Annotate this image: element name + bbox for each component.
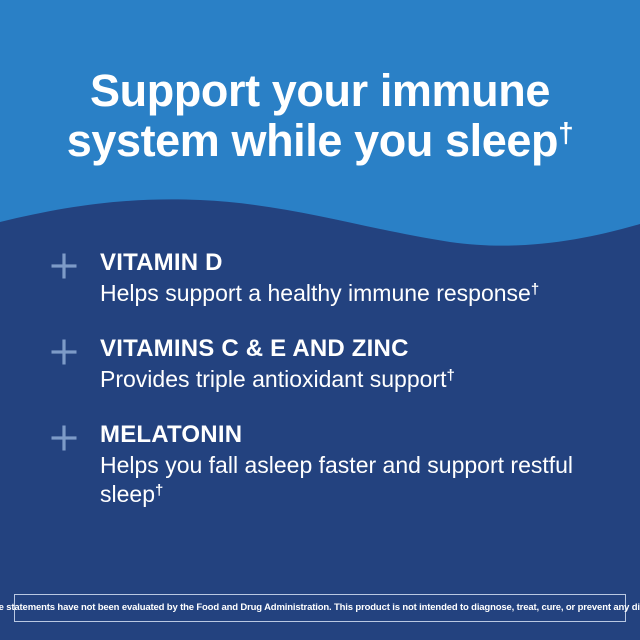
benefit-item-vitamin-d: VITAMIN D Helps support a healthy immune… [50, 248, 610, 308]
benefit-description-text: Helps you fall asleep faster and support… [100, 452, 573, 507]
benefit-title: VITAMINS C & E AND ZINC [100, 334, 610, 364]
benefit-item-melatonin: MELATONIN Helps you fall asleep faster a… [50, 420, 610, 509]
benefit-dagger: † [155, 482, 163, 499]
plus-icon [50, 424, 78, 452]
benefit-description: Helps support a healthy immune response† [100, 279, 610, 308]
benefit-description: Helps you fall asleep faster and support… [100, 451, 610, 509]
benefit-title: VITAMIN D [100, 248, 610, 278]
benefit-description: Provides triple antioxidant support† [100, 365, 610, 394]
benefit-item-vitamins-c-e-zinc: VITAMINS C & E AND ZINC Provides triple … [50, 334, 610, 394]
benefit-description-text: Provides triple antioxidant support [100, 366, 446, 392]
benefit-dagger: † [446, 367, 454, 384]
headline: Support your immune system while you sle… [0, 66, 640, 166]
plus-icon [50, 252, 78, 280]
benefits-list: VITAMIN D Helps support a healthy immune… [50, 248, 610, 509]
footer-disclaimer-text: †These statements have not been evaluate… [0, 602, 640, 614]
immune-support-infographic: Support your immune system while you sle… [0, 0, 640, 640]
headline-line-1: Support your immune [90, 65, 550, 116]
benefit-title: MELATONIN [100, 420, 610, 450]
footer-disclaimer-box: †These statements have not been evaluate… [14, 594, 626, 622]
benefit-description-text: Helps support a healthy immune response [100, 280, 531, 306]
headline-line-2: system while you sleep [67, 115, 558, 166]
benefit-dagger: † [531, 281, 539, 298]
headline-dagger: † [558, 117, 573, 148]
plus-icon [50, 338, 78, 366]
